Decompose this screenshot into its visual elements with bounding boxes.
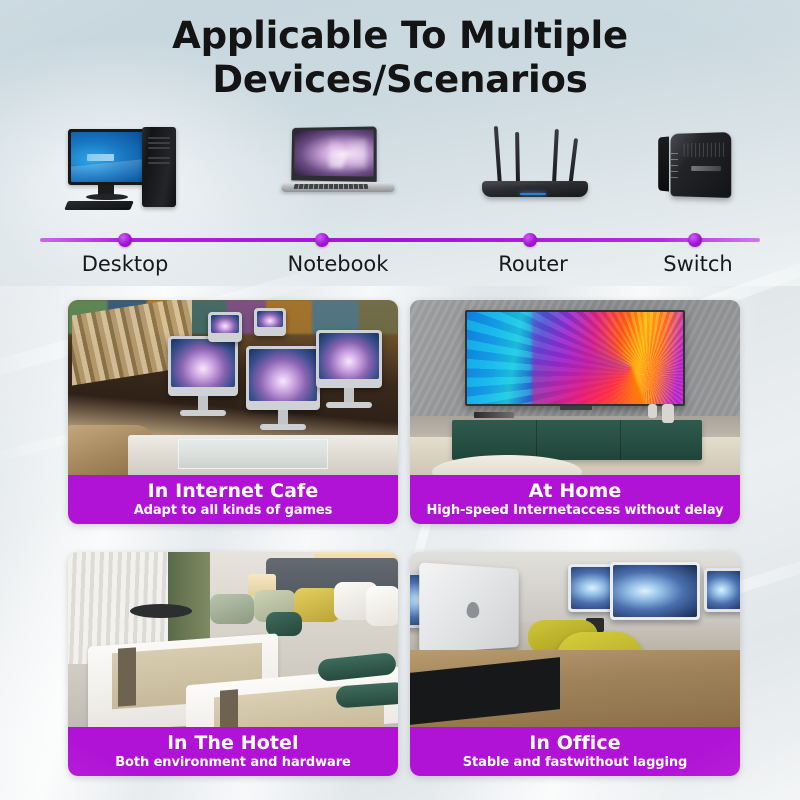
router-antenna [552,129,559,184]
switch-vents [684,142,727,157]
scenario-card-hotel[interactable]: ln The Hotel Both environment and hardwa… [68,552,398,776]
card-title: At Home [410,481,740,502]
media-console [452,420,702,460]
card-subtitle: High-speed Internetaccess without delay [410,503,740,518]
monitor-icon [68,129,146,185]
network-switch-icon [655,127,755,222]
television-icon [465,310,685,406]
switch-brand-mark [691,166,721,171]
timeline-dot-notebook[interactable] [315,233,329,247]
device-label-desktop: Desktop [82,252,169,276]
device-label-switch: Switch [663,252,732,276]
card-caption: At Home High-speed Internetaccess withou… [410,475,740,524]
router-antenna [515,132,520,184]
switch-body [671,132,732,198]
device-label-router: Router [498,252,568,276]
scenario-card-internet-cafe[interactable]: In Internet Cafe Adapt to all kinds of g… [68,300,398,524]
keyboard-icon [64,201,134,210]
device-label-notebook: Notebook [288,252,389,276]
living-room-tv-photo [410,300,740,475]
card-subtitle: Stable and fastwithout lagging [410,755,740,770]
wifi-router-icon [476,127,596,222]
router-body [482,181,588,197]
timeline-bar [40,238,760,242]
card-caption: In Office Stable and fastwithout lagging [410,727,740,776]
office-desks-imacs-photo [410,552,740,727]
switch-side-panel [658,137,669,192]
laptop-icon [282,127,397,222]
device-label-row: Desktop Notebook Router Switch [0,252,800,284]
router-antenna [494,126,502,186]
laptop-lid [291,126,376,181]
timeline-dot-switch[interactable] [688,233,702,247]
laptop-base [280,182,395,192]
switch-led-strip [671,153,678,179]
card-title: In Office [410,733,740,754]
title-line-2: Devices/Scenarios [0,58,800,102]
scenario-card-office[interactable]: In Office Stable and fastwithout lagging [410,552,740,776]
card-title: In Internet Cafe [68,481,398,502]
desktop-computer-icon [68,127,183,222]
card-caption: ln The Hotel Both environment and hardwa… [68,727,398,776]
pc-tower-icon [142,127,176,207]
promo-banner: Applicable To Multiple Devices/Scenarios [0,0,800,800]
monitor-base [86,194,128,200]
title-line-1: Applicable To Multiple [172,14,628,57]
timeline-dot-router[interactable] [523,233,537,247]
card-caption: In Internet Cafe Adapt to all kinds of g… [68,475,398,524]
card-subtitle: Both environment and hardware [68,755,398,770]
card-subtitle: Adapt to all kinds of games [68,503,398,518]
hotel-room-beds-photo [68,552,398,727]
page-title: Applicable To Multiple Devices/Scenarios [0,14,800,102]
internet-cafe-imacs-photo [68,300,398,475]
device-icon-row [0,112,800,222]
card-title: ln The Hotel [68,733,398,754]
scenario-card-at-home[interactable]: At Home High-speed Internetaccess withou… [410,300,740,524]
timeline-dot-desktop[interactable] [118,233,132,247]
